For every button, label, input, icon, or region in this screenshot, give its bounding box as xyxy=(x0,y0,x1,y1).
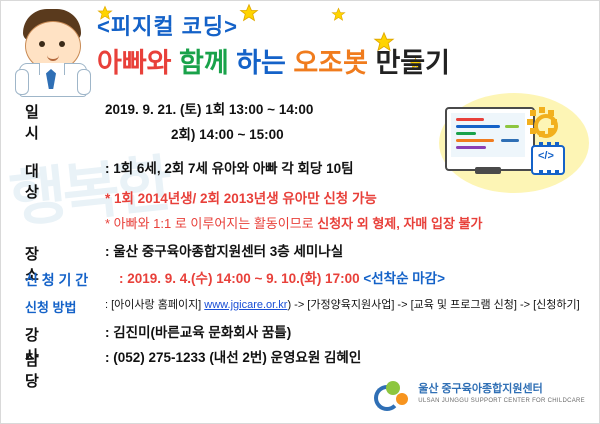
notice-line-2-plain: * 아빠와 1:1 로 이루어지는 활동이므로 xyxy=(105,216,317,231)
row-label-date: 일 시 xyxy=(25,101,97,143)
row-apply-period: 신 청 기 간 : 2019. 9. 4.(수) 14:00 ~ 9. 10.(… xyxy=(1,270,600,287)
poster-canvas: 행복한 <피지컬 코딩> xyxy=(0,0,600,424)
title-part-1: 함께 xyxy=(179,48,236,78)
center-logo-icon xyxy=(374,381,410,409)
row-target: 대 상 : 1회 6세, 2회 7세 유아와 아빠 각 회당 10팀 xyxy=(1,160,600,177)
row-label-apply-period: 신 청 기 간 xyxy=(25,270,117,290)
row-place: 장 소 : 울산 중구육아종합지원센터 3층 세미나실 xyxy=(1,243,600,260)
star-icon xyxy=(239,3,259,23)
row-apply-method: 신청 방법 : [아이사랑 홈페이지] www.jgicare.or.kr) -… xyxy=(1,297,600,314)
row-date: 일 시 2019. 9. 21. (토) 1회 13:00 ~ 14:00 2회… xyxy=(1,101,600,144)
star-icon xyxy=(331,7,346,22)
apply-method-prefix: : [아이사랑 홈페이지] xyxy=(105,299,204,311)
row-value-teacher: : 김진미(바른교육 문화회사 꿈틀) xyxy=(105,324,600,341)
row-value-date-line2: 2회) 14:00 ~ 15:00 xyxy=(171,125,600,144)
apply-period-extra: <선착순 마감> xyxy=(363,271,445,286)
title-part-0: 아빠와 xyxy=(97,48,179,78)
info-rows: 일 시 2019. 9. 21. (토) 1회 13:00 ~ 14:00 2회… xyxy=(1,101,600,369)
poster-header: <피지컬 코딩> 아빠와 함께 하는 오조봇 만들기 xyxy=(1,1,600,97)
title-part-3: 오조봇 xyxy=(293,48,375,78)
apply-method-tail: ) -> [가정양육지원사업] -> [교육 및 프로그램 신청] -> [신청… xyxy=(287,299,579,311)
page-title-sub: <피지컬 코딩> xyxy=(97,9,238,41)
row-value-contact: : (052) 275-1233 (내선 2번) 운영요원 김혜인 xyxy=(105,349,600,366)
footer-org-name-en: ULSAN JUNGGU SUPPORT CENTER FOR CHILDCAR… xyxy=(418,395,585,407)
footer-logo-block: 울산 중구육아종합지원센터 ULSAN JUNGGU SUPPORT CENTE… xyxy=(374,377,585,413)
notice-line-2-emphasis: 신청자 외 형제, 자매 입장 불가 xyxy=(317,216,482,231)
notice-line-1: * 1회 2014년생/ 2회 2013년생 유아만 신청 가능 xyxy=(105,189,600,208)
row-label-apply-method: 신청 방법 xyxy=(25,297,105,316)
row-contact: 담 당 : (052) 275-1233 (내선 2번) 운영요원 김혜인 xyxy=(1,349,600,366)
row-value-date-line1: 2019. 9. 21. (토) 1회 13:00 ~ 14:00 xyxy=(105,101,600,118)
row-notice-1: * 1회 2014년생/ 2회 2013년생 유아만 신청 가능 xyxy=(1,189,600,208)
row-value-place: : 울산 중구육아종합지원센터 3층 세미나실 xyxy=(105,243,600,260)
row-label-contact: 담 당 xyxy=(25,349,97,391)
row-value-target: : 1회 6세, 2회 7세 유아와 아빠 각 회당 10팀 xyxy=(105,160,600,177)
title-part-2: 하는 xyxy=(236,48,293,78)
footer-org-name-ko: 울산 중구육아종합지원센터 xyxy=(418,383,585,395)
row-value-apply-period: : 2019. 9. 4.(수) 14:00 ~ 9. 10.(화) 17:00 xyxy=(119,271,360,286)
title-part-4: 만들기 xyxy=(375,48,450,78)
homepage-link[interactable]: www.jgicare.or.kr xyxy=(204,299,287,311)
row-notice-2: * 아빠와 1:1 로 이루어지는 활동이므로 신청자 외 형제, 자매 입장 … xyxy=(1,214,600,233)
row-teacher: 강 사 : 김진미(바른교육 문화회사 꿈틀) xyxy=(1,324,600,341)
boy-character-illustration xyxy=(15,7,93,93)
page-title-main: 아빠와 함께 하는 오조봇 만들기 xyxy=(97,41,450,80)
